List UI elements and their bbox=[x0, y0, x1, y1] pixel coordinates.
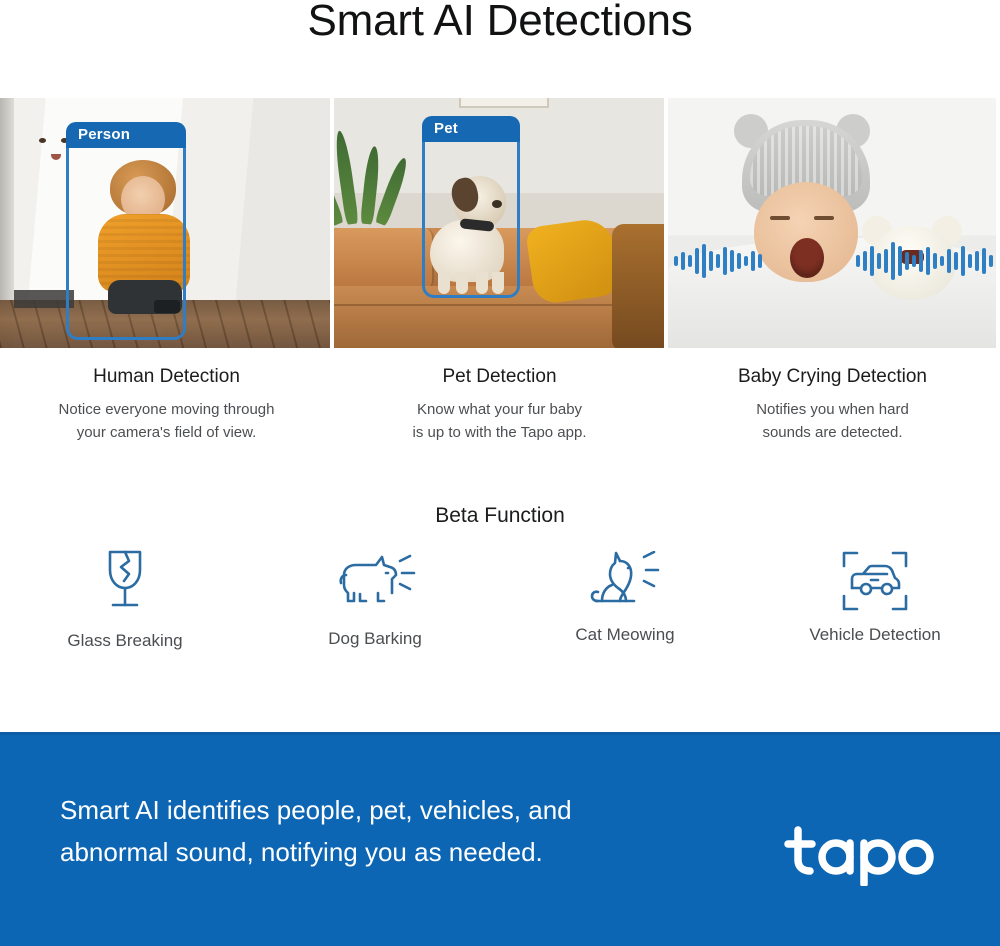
waveform-bar bbox=[891, 242, 895, 280]
waveform-bar bbox=[933, 253, 937, 269]
caption-pet-detection: Pet Detection Know what your fur baby is… bbox=[333, 364, 666, 444]
caption-line-1: Know what your fur baby bbox=[417, 401, 582, 418]
caption-text: Notice everyone moving through your came… bbox=[0, 398, 333, 444]
waveform-bar bbox=[702, 244, 706, 278]
beta-item-dog-barking[interactable]: Dog Barking bbox=[250, 545, 500, 651]
footer-banner: Smart AI identifies people, pet, vehicle… bbox=[0, 732, 1000, 946]
banner-line-1: Smart AI identifies people, pet, vehicle… bbox=[60, 795, 572, 825]
waveform-bar bbox=[674, 256, 678, 266]
caption-line-1: Notifies you when hard bbox=[756, 401, 909, 418]
waveform-bar bbox=[730, 250, 734, 272]
waveform-bar bbox=[744, 256, 748, 266]
beta-label: Dog Barking bbox=[250, 629, 500, 649]
waveform-bar bbox=[975, 251, 979, 271]
card-baby-crying-detection bbox=[668, 98, 996, 348]
waveform-bar bbox=[989, 255, 993, 267]
page-title: Smart AI Detections bbox=[0, 0, 1000, 48]
dog-barking-icon bbox=[250, 545, 500, 617]
caption-text: Notifies you when hard sounds are detect… bbox=[666, 398, 999, 444]
cat-meowing-icon bbox=[500, 545, 750, 617]
waveform-bar bbox=[751, 251, 755, 271]
sound-waveform-right bbox=[856, 236, 996, 286]
detection-box-person: Person bbox=[66, 122, 186, 340]
vehicle-scan-icon bbox=[750, 545, 1000, 617]
waveform-bar bbox=[940, 256, 944, 266]
waveform-bar bbox=[870, 246, 874, 276]
waveform-bar bbox=[681, 252, 685, 270]
beta-label: Vehicle Detection bbox=[750, 625, 1000, 645]
waveform-bar bbox=[905, 252, 909, 270]
waveform-bar bbox=[926, 247, 930, 275]
tapo-logo bbox=[784, 824, 938, 891]
caption-heading: Baby Crying Detection bbox=[666, 364, 999, 390]
waveform-bar bbox=[688, 255, 692, 267]
waveform-bar bbox=[968, 254, 972, 268]
caption-line-2: sounds are detected. bbox=[762, 424, 902, 441]
beta-function-title: Beta Function bbox=[0, 504, 1000, 528]
caption-heading: Pet Detection bbox=[333, 364, 666, 390]
caption-line-2: your camera's field of view. bbox=[77, 424, 257, 441]
waveform-bar bbox=[961, 246, 965, 276]
waveform-bar bbox=[912, 255, 916, 267]
caption-line-1: Notice everyone moving through bbox=[59, 401, 275, 418]
beta-item-cat-meowing[interactable]: Cat Meowing bbox=[500, 545, 750, 651]
beta-item-glass-breaking[interactable]: Glass Breaking bbox=[0, 545, 250, 651]
card-pet-detection: Pet bbox=[334, 98, 664, 348]
waveform-bar bbox=[863, 251, 867, 271]
waveform-bar bbox=[716, 254, 720, 268]
waveform-bar bbox=[954, 252, 958, 270]
card-captions-row: Human Detection Notice everyone moving t… bbox=[0, 364, 1000, 444]
beta-function-row: Glass Breaking Dog Barking bbox=[0, 545, 1000, 651]
caption-line-2: is up to with the Tapo app. bbox=[412, 424, 586, 441]
beta-item-vehicle-detection[interactable]: Vehicle Detection bbox=[750, 545, 1000, 651]
waveform-bar bbox=[877, 253, 881, 269]
waveform-bar bbox=[709, 251, 713, 271]
card-human-detection: Person bbox=[0, 98, 330, 348]
waveform-bar bbox=[982, 248, 986, 274]
waveform-bar bbox=[856, 255, 860, 267]
caption-heading: Human Detection bbox=[0, 364, 333, 390]
waveform-bar bbox=[737, 253, 741, 269]
banner-line-2: abnormal sound, notifying you as needed. bbox=[60, 837, 543, 867]
caption-text: Know what your fur baby is up to with th… bbox=[333, 398, 666, 444]
caption-baby-crying-detection: Baby Crying Detection Notifies you when … bbox=[666, 364, 999, 444]
beta-label: Cat Meowing bbox=[500, 625, 750, 645]
waveform-bar bbox=[695, 248, 699, 274]
detection-cards-row: Person bbox=[0, 98, 1000, 348]
waveform-bar bbox=[723, 247, 727, 275]
detection-label-person: Person bbox=[66, 122, 186, 148]
broken-glass-icon bbox=[0, 545, 250, 617]
waveform-bar bbox=[947, 249, 951, 273]
banner-text: Smart AI identifies people, pet, vehicle… bbox=[60, 789, 680, 873]
smart-ai-detections-page: Smart AI Detections Person bbox=[0, 0, 1000, 946]
photo-yawning-baby bbox=[668, 98, 996, 348]
waveform-bar bbox=[898, 246, 902, 276]
beta-label: Glass Breaking bbox=[0, 631, 250, 651]
sound-waveform-left bbox=[674, 236, 762, 286]
caption-human-detection: Human Detection Notice everyone moving t… bbox=[0, 364, 333, 444]
waveform-bar bbox=[884, 249, 888, 273]
waveform-bar bbox=[758, 254, 762, 268]
waveform-bar bbox=[919, 250, 923, 272]
detection-label-pet: Pet bbox=[422, 116, 520, 142]
detection-box-pet: Pet bbox=[422, 116, 520, 298]
